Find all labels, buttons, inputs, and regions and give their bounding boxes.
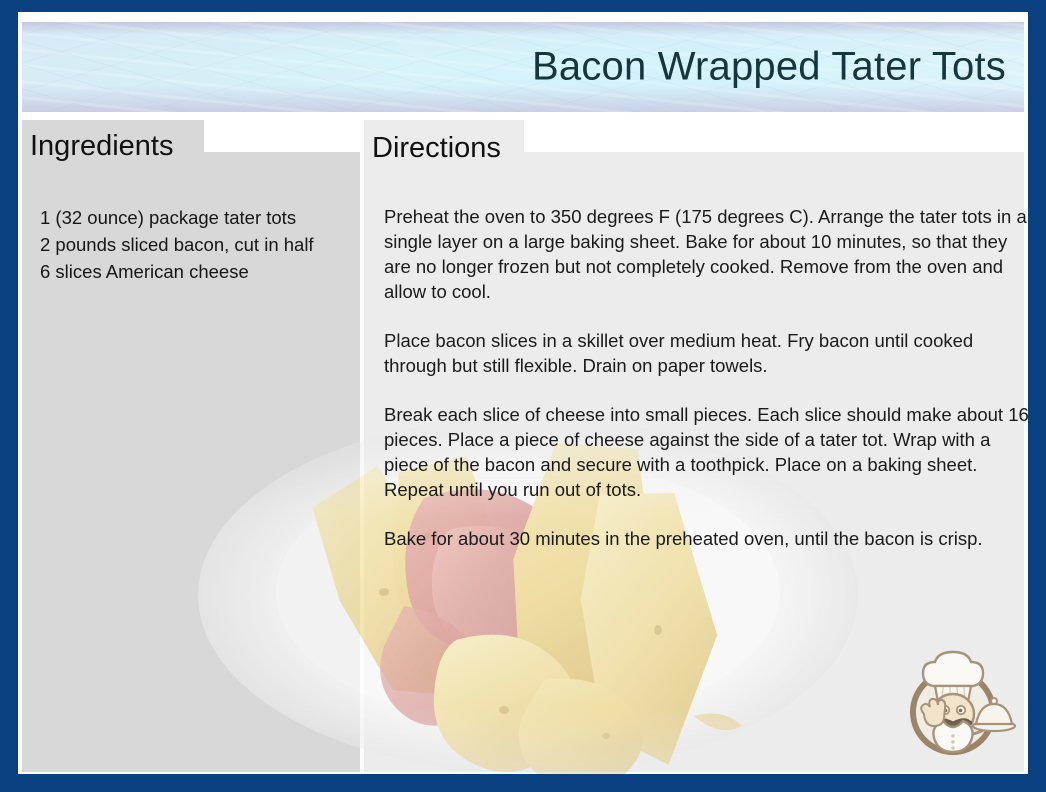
directions-heading: Directions	[372, 132, 501, 165]
list-item: 2 pounds sliced bacon, cut in half	[40, 231, 370, 258]
direction-step: Bake for about 30 minutes in the preheat…	[384, 526, 1028, 551]
directions-steps: Preheat the oven to 350 degrees F (175 d…	[384, 204, 1028, 551]
ingredients-heading: Ingredients	[30, 130, 174, 163]
direction-step: Place bacon slices in a skillet over med…	[384, 328, 1028, 378]
direction-step: Break each slice of cheese into small pi…	[384, 402, 1028, 502]
recipe-page: Bacon Wrapped Tater Tots Ingredients Dir…	[18, 12, 1028, 774]
header-banner: Bacon Wrapped Tater Tots	[22, 22, 1024, 112]
chef-mascot-logo	[890, 642, 1016, 768]
page-title: Bacon Wrapped Tater Tots	[532, 45, 1006, 90]
list-item: 6 slices American cheese	[40, 258, 370, 285]
direction-step: Preheat the oven to 350 degrees F (175 d…	[384, 204, 1028, 304]
list-item: 1 (32 ounce) package tater tots	[40, 204, 370, 231]
ingredients-list: 1 (32 ounce) package tater tots 2 pounds…	[40, 204, 370, 285]
recipe-card: Bacon Wrapped Tater Tots Ingredients Dir…	[0, 0, 1046, 792]
